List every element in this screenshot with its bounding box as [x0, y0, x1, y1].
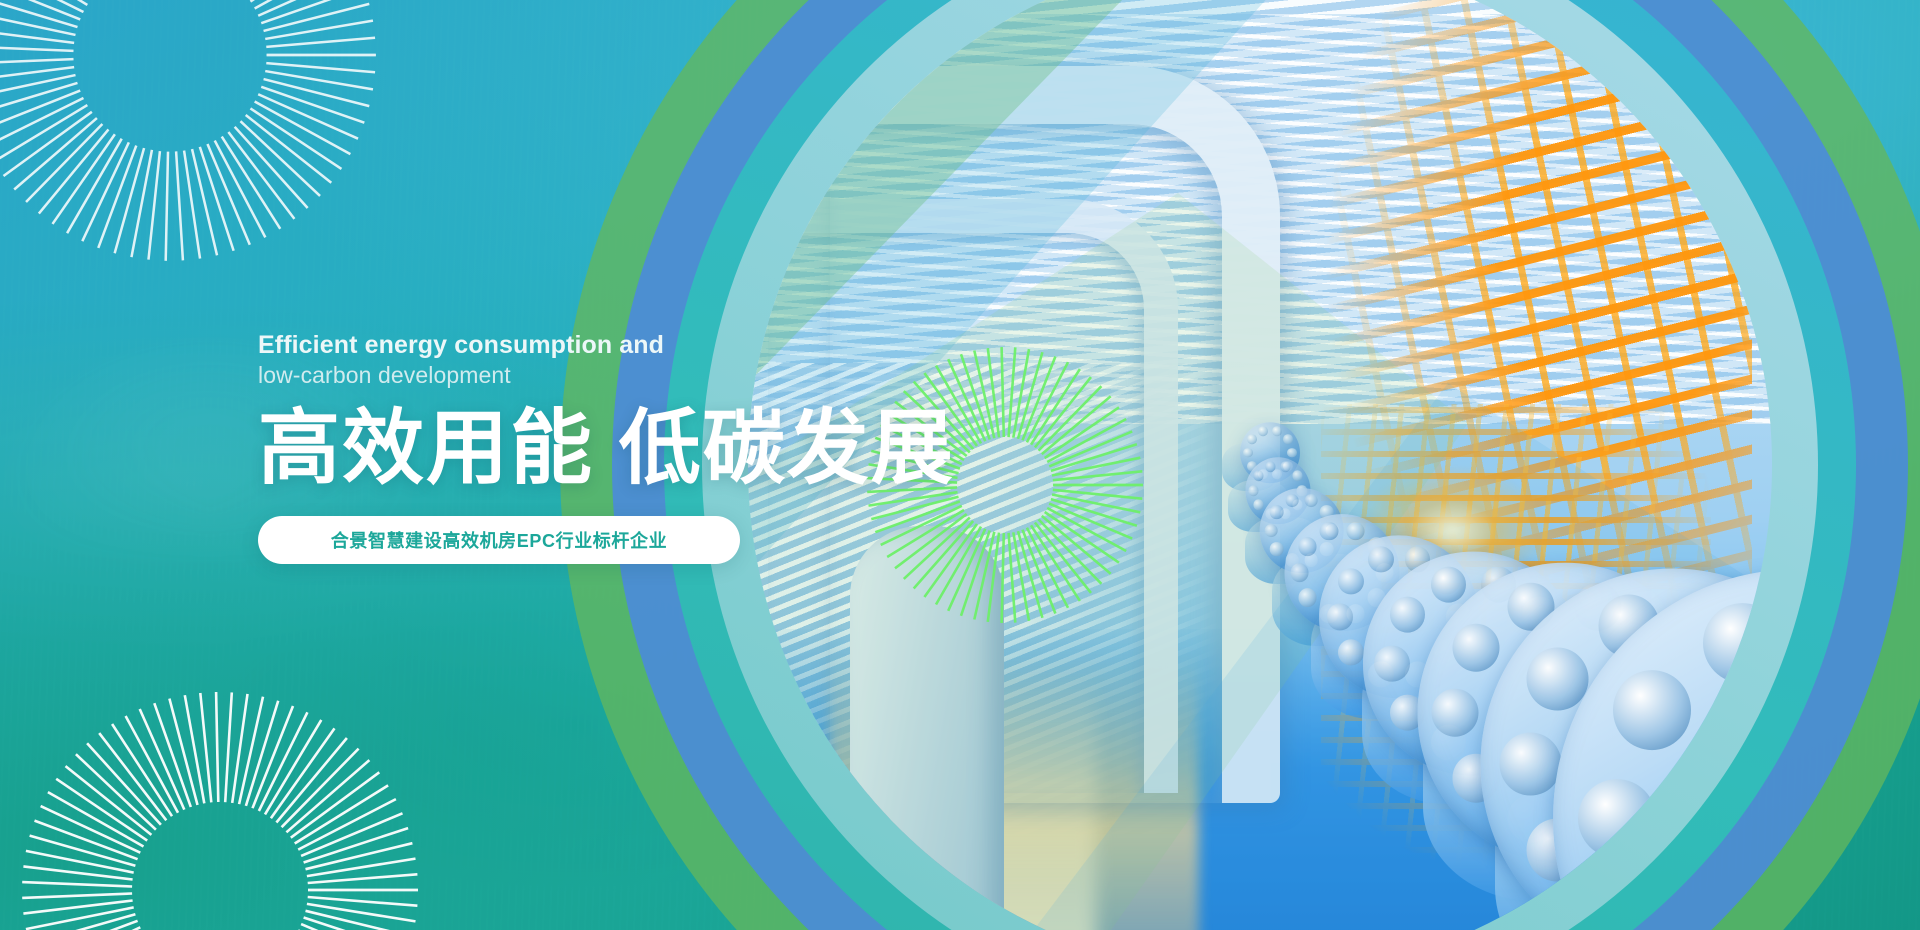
- hero-eyebrow-line-1: Efficient energy consumption and: [258, 330, 1018, 360]
- hero-banner: Efficient energy consumption and low-car…: [0, 0, 1920, 930]
- hero-cta-button[interactable]: 合景智慧建设高效机房EPC行业标杆企业: [258, 516, 740, 564]
- hero-headline: 高效用能 低碳发展: [258, 404, 1018, 494]
- hero-copy-block: Efficient energy consumption and low-car…: [258, 330, 1018, 564]
- pipeline-flanges: [1199, 178, 1772, 930]
- hero-eyebrow-line-2: low-carbon development: [258, 360, 1018, 390]
- hero-eyebrow: Efficient energy consumption and low-car…: [258, 330, 1018, 390]
